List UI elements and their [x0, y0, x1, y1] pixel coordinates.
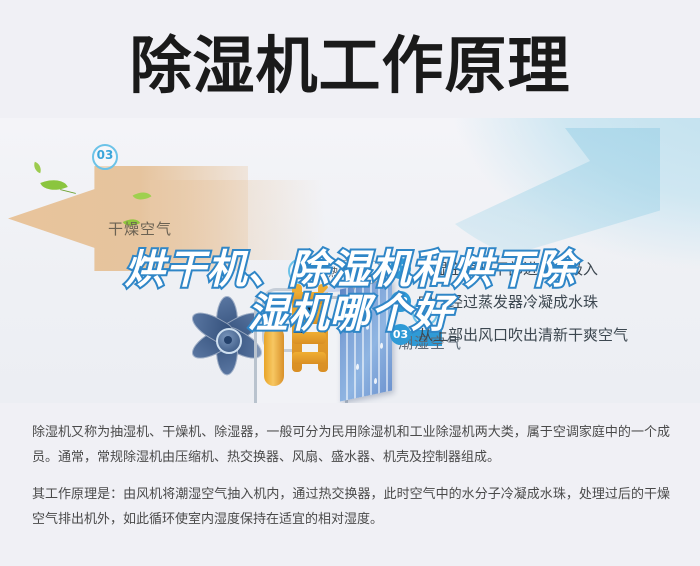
- dry-air-fade: [150, 180, 325, 260]
- legend-list: 01 潮湿空气从下部进风口吸入 02 空气经过蒸发器冷凝成水珠 03 从上部出风…: [390, 258, 690, 357]
- leaf-icon: [40, 174, 67, 196]
- legend-number: 01: [390, 258, 411, 279]
- legend-number: 03: [390, 324, 411, 345]
- flow-arrow-up-icon: [294, 324, 304, 333]
- flow-arrow-down-icon: [320, 324, 330, 333]
- page-title-part2: 工作原理: [319, 29, 571, 102]
- callout-tail-icon: [348, 278, 360, 290]
- legend-label: 潮湿空气从下部进风口吸入: [418, 258, 598, 279]
- compressor-cylinder: [264, 326, 284, 386]
- compressor-unit: [248, 268, 398, 403]
- page-root: 除湿机工作原理: [0, 0, 700, 566]
- diagram-marker-03: 03: [92, 144, 118, 170]
- heat-exchanger-block: [340, 278, 392, 401]
- diagram-marker-02: 02: [288, 258, 314, 284]
- dry-air-label: 干燥空气: [108, 218, 172, 239]
- legend-item: 01 潮湿空气从下部进风口吸入: [390, 258, 690, 279]
- body-paragraph-1: 除湿机又称为抽湿机、干燥机、除湿器，一般可分为民用除湿机和工业除湿机两大类，属于…: [32, 420, 670, 470]
- article-body: 除湿机又称为抽湿机、干燥机、除湿器，一般可分为民用除湿机和工业除湿机两大类，属于…: [32, 420, 670, 544]
- body-paragraph-2: 其工作原理是：由风机将潮湿空气抽入机内，通过热交换器，此时空气中的水分子冷凝成水…: [32, 482, 670, 532]
- page-title: 除湿机工作原理: [0, 30, 700, 102]
- leaf-stem: [60, 189, 76, 194]
- legend-item: 02 空气经过蒸发器冷凝成水珠: [390, 291, 690, 312]
- legend-label: 空气经过蒸发器冷凝成水珠: [418, 291, 598, 312]
- leaf-icon: [32, 162, 44, 174]
- flow-arrow-right-icon: [306, 304, 315, 314]
- legend-number: 02: [390, 291, 411, 312]
- legend-label: 从上部出风口吹出清新干爽空气: [418, 324, 628, 345]
- legend-item: 03 从上部出风口吹出清新干爽空气: [390, 324, 690, 345]
- page-title-part1: 除湿机: [129, 29, 318, 102]
